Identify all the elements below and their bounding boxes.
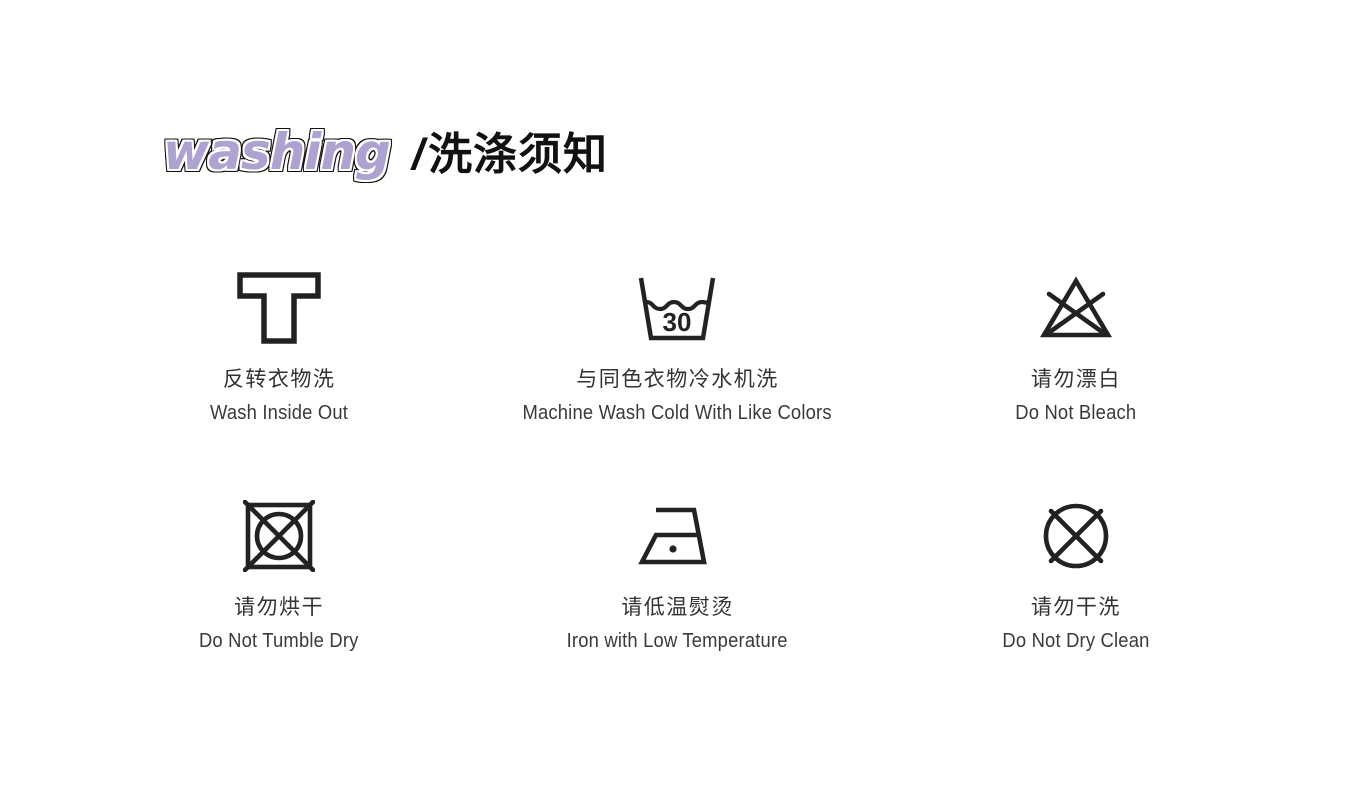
iron-low-temperature-icon xyxy=(634,490,720,582)
do-not-dry-clean-icon xyxy=(1040,490,1112,582)
care-item-wash-inside-out: 反转衣物洗 Wash Inside Out xyxy=(80,262,478,490)
title-separator: / xyxy=(412,130,424,180)
care-item-do-not-bleach: 请勿漂白 Do Not Bleach xyxy=(877,262,1275,490)
title-chinese: 洗涤须知 xyxy=(428,118,608,182)
care-label-cn: 反转衣物洗 xyxy=(223,368,336,392)
tshirt-icon xyxy=(237,262,321,354)
care-label-en: Iron with Low Temperature xyxy=(567,630,788,653)
care-item-iron-low-temperature: 请低温熨烫 Iron with Low Temperature xyxy=(478,490,876,718)
care-label-en: Do Not Bleach xyxy=(1015,402,1136,425)
care-item-machine-wash-cold: 30 与同色衣物冷水机洗 Machine Wash Cold With Like… xyxy=(478,262,876,490)
care-label-cn: 与同色衣物冷水机洗 xyxy=(576,368,779,392)
care-label-cn: 请勿烘干 xyxy=(234,596,324,620)
title-word-washing: washing xyxy=(163,127,390,177)
care-label-cn: 请勿干洗 xyxy=(1031,596,1121,620)
care-item-do-not-dry-clean: 请勿干洗 Do Not Dry Clean xyxy=(877,490,1275,718)
care-label-en: Do Not Tumble Dry xyxy=(199,630,359,653)
care-label-en: Wash Inside Out xyxy=(210,402,348,425)
care-label-cn: 请低温熨烫 xyxy=(621,596,734,620)
do-not-tumble-dry-icon xyxy=(243,490,315,582)
care-label-en: Do Not Dry Clean xyxy=(1002,630,1149,653)
care-item-do-not-tumble-dry: 请勿烘干 Do Not Tumble Dry xyxy=(80,490,478,718)
do-not-bleach-icon xyxy=(1035,262,1117,354)
wash-tub-30-icon: 30 xyxy=(637,262,717,354)
care-label-cn: 请勿漂白 xyxy=(1031,368,1121,392)
care-label-en: Machine Wash Cold With Like Colors xyxy=(523,402,832,425)
care-symbol-grid: 反转衣物洗 Wash Inside Out 30 与同色衣物冷水机洗 Machi… xyxy=(80,262,1275,718)
page-title: washing / 洗涤须知 xyxy=(163,118,608,182)
svg-text:30: 30 xyxy=(663,307,692,337)
